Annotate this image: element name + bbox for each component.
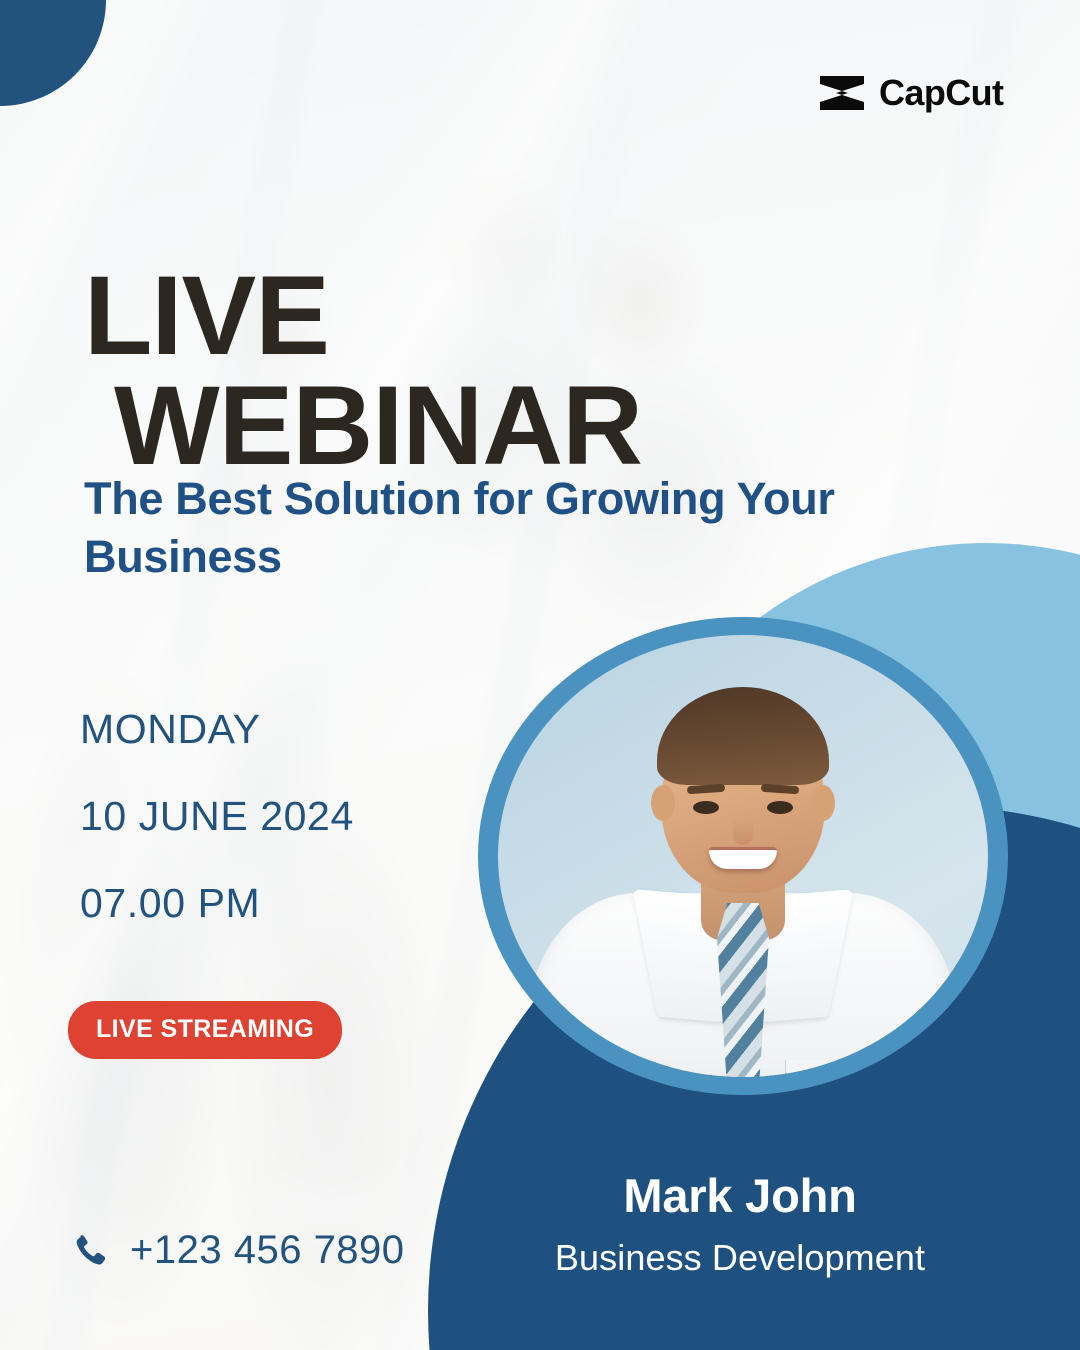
portrait-nose [733, 819, 753, 845]
portrait-ear-right [811, 785, 835, 821]
portrait-eye-right [767, 801, 793, 814]
schedule-block: MONDAY 10 JUNE 2024 07.00 PM [80, 706, 354, 927]
subtitle: The Best Solution for Growing Your Busin… [84, 470, 844, 585]
contact-block[interactable]: +123 456 7890 [70, 1228, 405, 1273]
speaker-portrait [478, 617, 1008, 1095]
schedule-day: MONDAY [80, 706, 354, 753]
page-title: LIVE WEBINAR [84, 261, 642, 481]
schedule-date: 10 JUNE 2024 [80, 793, 354, 840]
capcut-logo: CapCut [818, 72, 1003, 114]
capcut-bowtie-mark-icon [818, 73, 866, 113]
speaker-role: Business Development [440, 1237, 1040, 1279]
speaker-caption: Mark John Business Development [440, 1168, 1040, 1279]
portrait-smile [709, 847, 777, 869]
phone-icon [70, 1232, 108, 1270]
capcut-wordmark: CapCut [879, 72, 1003, 114]
phone-number: +123 456 7890 [130, 1228, 405, 1273]
headline-line-2: WEBINAR [114, 371, 642, 481]
portrait-ear-left [651, 785, 675, 821]
portrait-shirt-pocket [785, 1060, 873, 1077]
portrait-eye-left [693, 801, 719, 814]
speaker-name: Mark John [440, 1168, 1040, 1223]
status-badge[interactable]: LIVE STREAMING [68, 1001, 342, 1059]
headline-line-1: LIVE [84, 253, 329, 378]
webinar-poster: CapCut LIVE WEBINAR The Best Solution fo… [0, 0, 1080, 1350]
portrait-necktie [717, 903, 769, 1077]
portrait-hair [657, 687, 829, 785]
portrait-photo [498, 635, 988, 1077]
schedule-time: 07.00 PM [80, 880, 354, 927]
